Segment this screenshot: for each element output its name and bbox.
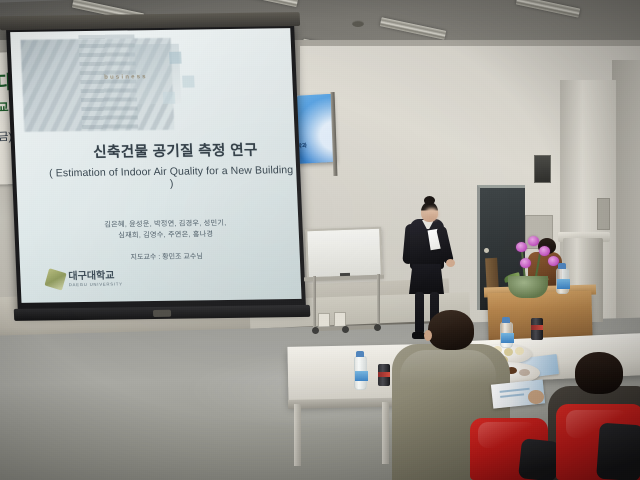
audience-front-shoulder-highlight: [400, 350, 496, 384]
wall-plate: [597, 198, 610, 230]
presenter-hand: [446, 259, 455, 267]
projected-slide: business 신축건물 공기질 측정 연구 ( Estimation of …: [10, 28, 301, 303]
bottle-cap: [558, 263, 566, 269]
seat-armrest: [518, 438, 560, 480]
food-item: [515, 347, 524, 355]
bottle-label: [501, 333, 514, 343]
presenter-skirt: [409, 264, 444, 294]
orchid-flower: [528, 236, 539, 246]
beverage-can[interactable]: [378, 364, 390, 386]
wall-column-far: [612, 60, 640, 320]
wall-speaker-icon: [534, 155, 551, 183]
seat-armrest: [596, 423, 640, 480]
slide-advisor: 지도교수 : 황민조 교수님: [43, 250, 289, 263]
university-logo: 대구대학교 DAEGU UNIVERSITY: [46, 269, 123, 288]
presenter-face-blurred: [425, 208, 438, 220]
slide-authors: 김은혜, 윤성운, 박정연, 김경우, 성민기, 심재희, 김영수, 주연은, …: [42, 216, 289, 241]
audience-front-head: [428, 310, 474, 350]
can-label-band: [378, 372, 390, 377]
whiteboard-caster: [312, 327, 319, 334]
whiteboard-caster: [342, 326, 349, 333]
slide-authors-line2: 심재희, 김영수, 주연은, 홍나경: [42, 227, 289, 241]
door-knob: [484, 248, 489, 253]
bottle-cap: [502, 317, 510, 323]
slide-swatch: [169, 52, 182, 64]
orchid-flower: [520, 258, 531, 268]
screen-pull-handle[interactable]: [153, 310, 171, 317]
whiteboard-leg: [313, 276, 316, 328]
whiteboard-leg: [377, 274, 380, 326]
presenter-hair-bun: [424, 196, 435, 205]
audience-front-ear: [424, 330, 432, 341]
water-bottle[interactable]: [556, 268, 569, 294]
front-table-leg: [382, 402, 389, 464]
whiteboard-marker[interactable]: [340, 273, 350, 276]
bottle-label: [355, 371, 368, 381]
slide-subtitle: ( Estimation of Indoor Air Quality for a…: [46, 164, 297, 191]
slide-title: 신축건물 공기질 측정 연구: [93, 138, 299, 162]
banner-left-line2: 교: [0, 98, 9, 115]
water-bottle[interactable]: [500, 322, 513, 348]
beverage-can[interactable]: [531, 318, 543, 340]
orchid-flower: [516, 242, 527, 252]
food-item: [504, 348, 513, 356]
logo-text-block: 대구대학교 DAEGU UNIVERSITY: [68, 271, 123, 287]
slide-swatch: [163, 92, 176, 104]
projection-screen: business 신축건물 공기질 측정 연구 ( Estimation of …: [6, 24, 306, 313]
presentation-room-photo: 대 교 . (금) 발표회 표회 대구대학교 환경공학과 business 신축…: [0, 0, 640, 480]
audience-right-head: [575, 352, 623, 394]
water-bottle[interactable]: [354, 356, 367, 390]
food-item: [519, 369, 530, 376]
booklet-text-line: [500, 393, 524, 397]
presenter-leg: [415, 292, 424, 334]
booklet-text-line: [500, 388, 530, 393]
whiteboard: [305, 227, 383, 280]
front-table-leg: [294, 404, 301, 466]
slide-decor-word: business: [104, 74, 148, 81]
logo-text-english: DAEGU UNIVERSITY: [69, 281, 123, 287]
orchid-pot: [508, 276, 548, 298]
whiteboard-caster: [374, 324, 381, 331]
logo-text-korean: 대구대학교: [68, 271, 122, 282]
slide-swatch: [182, 75, 195, 87]
audience-right-hand: [528, 390, 544, 404]
orchid-flower: [539, 246, 550, 256]
bottle-label: [557, 279, 570, 289]
bottle-cap: [356, 351, 364, 357]
logo-mark-icon: [44, 268, 66, 291]
ceiling-vent: [352, 20, 364, 27]
can-label-band: [531, 325, 543, 330]
